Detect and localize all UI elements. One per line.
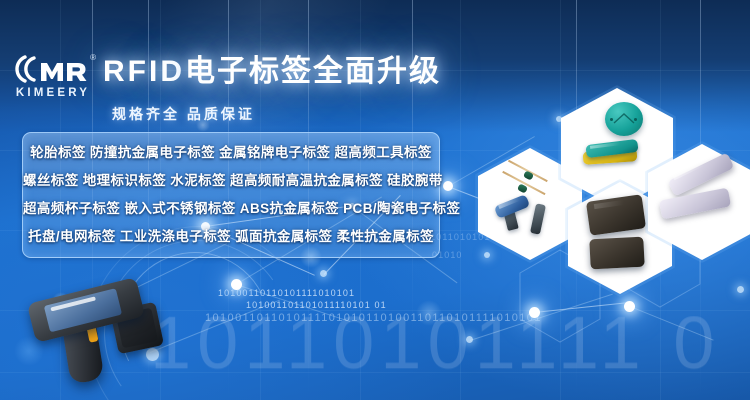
tag-row: 超高频杯子标签 嵌入式不锈钢标签 ABS抗金属标签 PCB/陶瓷电子标签 [23, 195, 439, 223]
rfid-promo-banner: 10110101111 0 10100110110101111010101101… [0, 0, 750, 400]
tag-row: 托盘/电网标签 工业洗涤电子标签 弧面抗金属标签 柔性抗金属标签 [23, 223, 439, 251]
page-title: RFID电子标签全面升级 [103, 50, 441, 94]
tag-row: 轮胎标签 防撞抗金属电子标签 金属铭牌电子标签 超高频工具标签 [23, 139, 439, 167]
product-tag-list-panel: 轮胎标签 防撞抗金属电子标签 金属铭牌电子标签 超高频工具标签 螺丝标签 地理标… [22, 132, 440, 258]
reader-screen [44, 288, 122, 332]
binary-watermark-mid: 1010011011010111101010110100110110101111… [205, 312, 542, 324]
brand-logo[interactable]: ® KIMEERY [11, 52, 95, 110]
binary-text-mid: 101001101101011110101 01 [246, 300, 387, 310]
registered-trademark-icon: ® [90, 53, 96, 62]
tag-row: 螺丝标签 地理标识标签 水泥标签 超高频耐高温抗金属标签 硅胶腕带 [23, 167, 439, 195]
page-title-cjk: 电子标签全面升级 [185, 55, 441, 88]
page-subtitle: 规格齐全 品质保证 [112, 104, 255, 124]
handheld-rfid-reader[interactable] [30, 278, 200, 390]
binary-text-top: 10100110110101111010101 [218, 288, 355, 298]
company-name: KIMEERY [11, 87, 95, 99]
hex-cell-lavender-tags[interactable] [648, 144, 750, 260]
page-title-latin: RFID [103, 55, 185, 88]
logo-mark-kmr: ® [11, 52, 95, 86]
